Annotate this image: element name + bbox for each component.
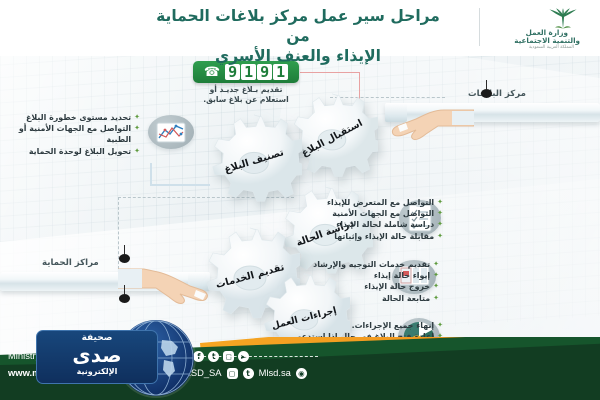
instagram-icon-2[interactable]: ◉ (296, 368, 307, 379)
list-provide-services: ✦تقديم خدمات التوجيه والإرشاد ✦إيواء حال… (291, 259, 439, 304)
pin-marker-top (481, 89, 492, 98)
pin-marker-bottom-b (119, 294, 130, 303)
list-item-text: إنهاء جميع الإجراءات. (291, 320, 434, 331)
page-title: مراحل سير عمل مركز بلاغات الحماية من الإ… (148, 6, 448, 66)
watermark-plate: صحيفة صدى الإلكترونية (36, 330, 158, 384)
bullet-icon: ✦ (433, 259, 439, 270)
list-item-text: دراسة شاملة لحالة الإيذاء (291, 219, 434, 230)
bullet-icon: ✦ (437, 219, 443, 230)
bullet-icon: ✦ (134, 123, 140, 134)
list-item-text: التواصل مع الجهات الأمنية أو الطبية (8, 123, 131, 145)
list-item: ✦التواصل مع الجهات الأمنية أو الطبية (8, 123, 140, 145)
title-line-2: الإيذاء والعنف الأسري (148, 46, 448, 66)
list-item: ✦تحديد مستوى خطورة البلاغ (8, 112, 140, 123)
bullet-icon: ✦ (437, 208, 443, 219)
hotline-caption-line2: استعلام عن بلاغ سابق. (190, 95, 302, 105)
watermark-sada: صحيفة صدى الإلكترونية (30, 320, 265, 398)
bullet-icon: ✦ (134, 146, 140, 157)
bullet-icon: ✦ (433, 270, 439, 281)
bullet-icon: ✦ (437, 197, 443, 208)
list-item-text: تقديم خدمات التوجيه والإرشاد (291, 259, 430, 270)
list-item: ✦إنهاء جميع الإجراءات. (291, 320, 443, 331)
hotline-digit-1: 1 (273, 64, 288, 80)
list-item-text: إيواء حالة إيذاء (291, 270, 430, 281)
connector-line-blue-2 (150, 184, 210, 186)
palm-tree-icon (546, 8, 580, 30)
hotline-caption: تقديم بـلاغ جديـد أو استعلام عن بلاغ ساب… (190, 85, 302, 105)
list-item: ✦مقابلة حالة الإيذاء وإثباتها (291, 231, 443, 242)
title-line-1: مراحل سير عمل مركز بلاغات الحماية من (156, 7, 440, 45)
pin-marker-bottom-a (119, 254, 130, 263)
list-item: ✦تحويل البلاغ لوحدة الحماية (8, 146, 140, 157)
list-item: ✦التواصل مع المتعرض للإيذاء (291, 197, 443, 208)
hotline-digit-2: 9 (257, 64, 272, 80)
list-item-text: مقابلة حالة الإيذاء وإثباتها (291, 231, 434, 242)
list-item-text: التواصل مع المتعرض للإيذاء (291, 197, 434, 208)
hotline-digit-3: 1 (241, 64, 256, 80)
ministry-logo: وزارة العمل والتنمية الاجتماعية المملكة … (484, 6, 594, 50)
list-item: ✦دراسة شاملة لحالة الإيذاء (291, 219, 443, 230)
hand-pushing-gear-top (388, 98, 474, 146)
logo-divider (479, 8, 480, 46)
watermark-dashed-line (198, 356, 318, 357)
bullet-icon: ✦ (134, 112, 140, 123)
watermark-line-2: صدى (37, 344, 157, 366)
infographic-canvas: مراحل سير عمل مركز بلاغات الحماية من الإ… (0, 0, 600, 400)
ministry-name-line2: والتنمية الاجتماعية (514, 36, 580, 45)
list-case-study: ✦التواصل مع المتعرض للإيذاء ✦التواصل مع … (291, 197, 443, 242)
watermark-line-3: الإلكترونية (37, 367, 157, 376)
hotline-number: 1 9 1 9 (225, 64, 288, 80)
header-bar: مراحل سير عمل مركز بلاغات الحماية من الإ… (0, 0, 600, 56)
list-item-text: خروج حالة الإيذاء (291, 281, 430, 292)
ministry-country: المملكة العربية السعودية (529, 45, 574, 50)
bullet-icon: ✦ (433, 281, 439, 292)
pipe-top-label: مركز البلاغات (468, 89, 526, 99)
bullet-icon: ✦ (437, 320, 443, 331)
chart-icon-badge (148, 115, 194, 149)
pipe-bottom-label: مراكز الحماية (42, 258, 99, 268)
list-item-text: متابعة الحالة (291, 293, 430, 304)
list-item: ✦إيواء حالة إيذاء (291, 270, 439, 281)
chart-icon (148, 115, 194, 149)
list-classify-report: ✦تحديد مستوى خطورة البلاغ ✦التواصل مع ال… (8, 112, 140, 157)
list-item-text: التواصل مع الجهات الأمنية (291, 208, 434, 219)
list-item: ✦متابعة الحالة (291, 293, 439, 304)
list-item-text: تحويل البلاغ لوحدة الحماية (8, 146, 131, 157)
hand-pushing-gear-bottom (118, 255, 210, 307)
list-item: ✦التواصل مع الجهات الأمنية (291, 208, 443, 219)
hotline-digit-4: 9 (225, 64, 240, 80)
phone-icon: ☎ (204, 66, 220, 79)
watermark-line-1: صحيفة (37, 333, 157, 343)
hotline-caption-line1: تقديم بـلاغ جديـد أو (190, 85, 302, 95)
connector-line-blue (150, 163, 152, 185)
list-item: ✦خروج حالة الإيذاء (291, 281, 439, 292)
bullet-icon: ✦ (433, 293, 439, 304)
list-item-text: تحديد مستوى خطورة البلاغ (8, 112, 131, 123)
list-item: ✦تقديم خدمات التوجيه والإرشاد (291, 259, 439, 270)
connector-line-red (300, 72, 360, 73)
bullet-icon: ✦ (437, 231, 443, 242)
